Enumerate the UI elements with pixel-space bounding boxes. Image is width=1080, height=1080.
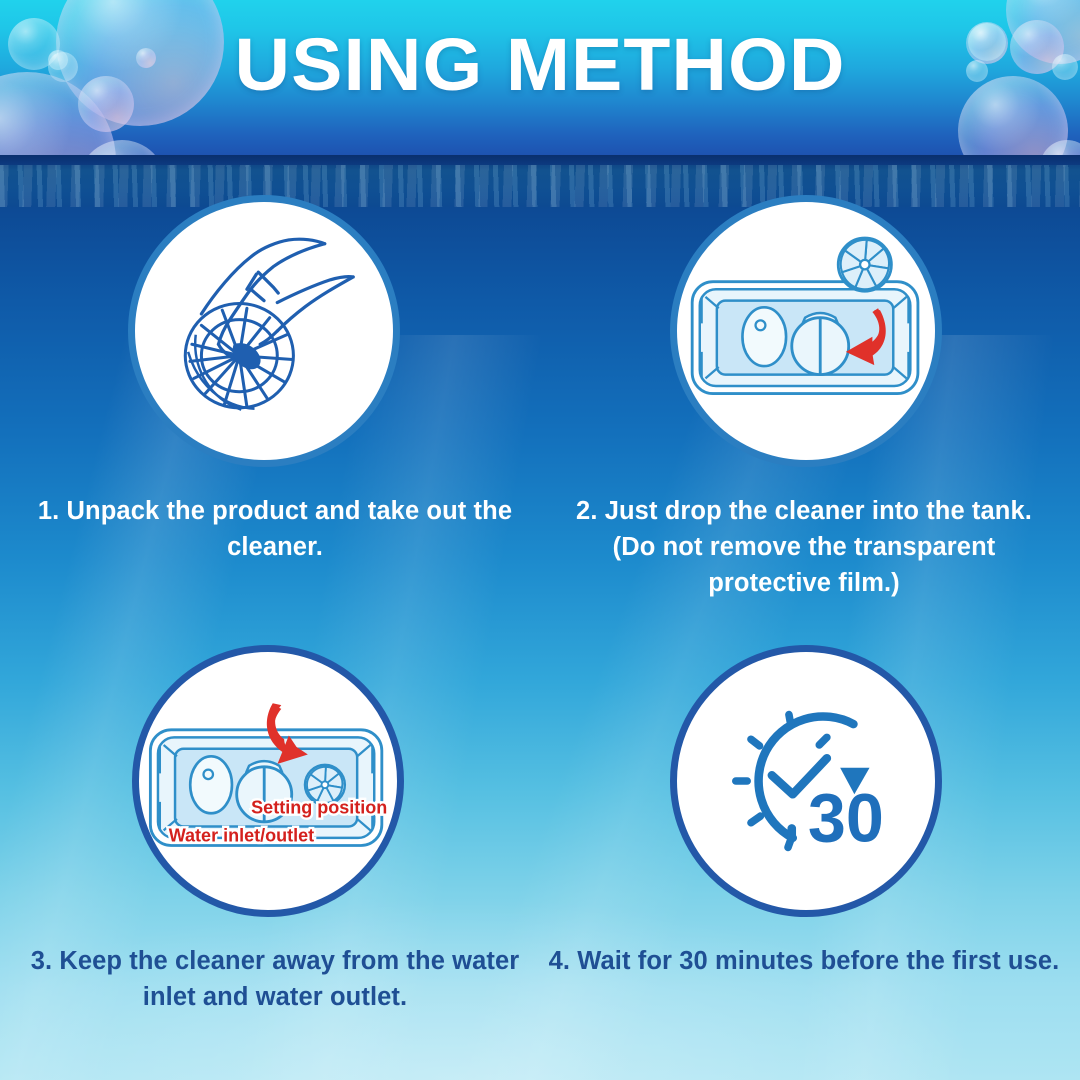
step-2-caption-line-3: protective film.) — [548, 565, 1060, 601]
step-1: 1. Unpack the product and take out the c… — [20, 195, 530, 565]
step-2-caption: 2. Just drop the cleaner into the tank. … — [548, 493, 1060, 601]
step-4-caption-line-1: 4. Wait for 30 minutes before — [549, 947, 900, 975]
step-2-icon-circle — [670, 195, 942, 467]
step-2: 2. Just drop the cleaner into the tank. … — [548, 195, 1060, 601]
step-2-caption-line-1: 2. Just drop the cleaner into the tank. — [548, 493, 1060, 529]
step-1-caption-line-1: 1. Unpack the product and — [38, 497, 361, 525]
step-4-caption: 4. Wait for 30 minutes before the first … — [548, 943, 1060, 979]
hand-holding-cleaner-disc-icon — [135, 202, 393, 460]
infographic-page: USING METHOD — [0, 0, 1080, 1080]
step-1-caption: 1. Unpack the product and take out the c… — [20, 493, 530, 565]
page-title: USING METHOD — [0, 22, 1080, 108]
step-3-caption: 3. Keep the cleaner away from the water … — [20, 943, 530, 1015]
toilet-tank-setting-position-icon: Setting position Water inlet/outlet — [139, 652, 397, 910]
step-1-icon-circle — [128, 195, 400, 467]
setting-position-label: Setting position — [251, 797, 387, 817]
clock-value-text: 30 — [808, 781, 884, 857]
step-3-icon-circle: Setting position Water inlet/outlet — [132, 645, 404, 917]
header-banner: USING METHOD — [0, 0, 1080, 160]
setting-position-label-text: Setting position — [251, 797, 387, 817]
water-inlet-outlet-label: Water inlet/outlet — [169, 826, 314, 846]
clock-30-minutes-icon: 30 — [677, 652, 935, 910]
step-3-caption-line-1: 3. Keep the cleaner away from the — [31, 947, 445, 975]
toilet-tank-drop-cleaner-icon — [677, 202, 935, 460]
step-4-icon-circle: 30 — [670, 645, 942, 917]
water-inlet-outlet-label-text: Water inlet/outlet — [169, 826, 314, 846]
step-2-caption-line-2: (Do not remove the transparent — [548, 529, 1060, 565]
steps-grid: 1. Unpack the product and take out the c… — [0, 155, 1080, 1080]
step-3: Setting position Water inlet/outlet 3. K… — [20, 645, 530, 1015]
step-4-caption-line-2: the first use. — [906, 947, 1059, 975]
step-4: 30 4. Wait for 30 minutes before the fir… — [548, 645, 1060, 979]
